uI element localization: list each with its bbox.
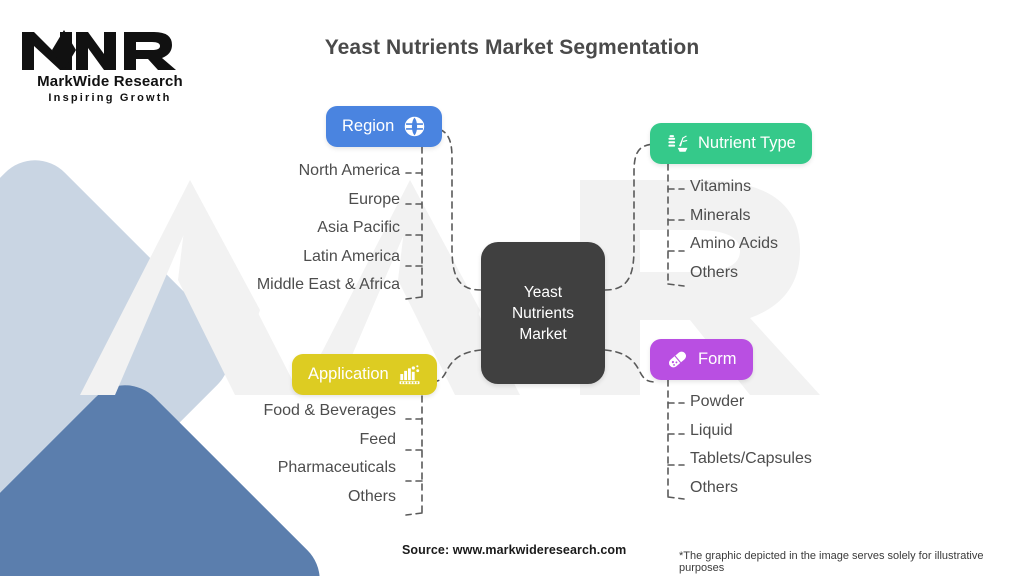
nutrient-icon xyxy=(666,132,689,155)
diagram-canvas: MarkWide Research Inspiring Growth Yeast… xyxy=(0,0,1024,576)
leaf-item: Asia Pacific xyxy=(317,219,400,237)
capsule-icon xyxy=(666,348,689,371)
category-badge-nutrient-type[interactable]: Nutrient Type xyxy=(650,123,812,164)
leaf-item: Food & Beverages xyxy=(263,402,396,420)
leaf-item: Amino Acids xyxy=(690,235,778,253)
leaf-item: Feed xyxy=(360,431,396,449)
leaf-item: Others xyxy=(690,264,738,282)
leaf-item: Others xyxy=(348,488,396,506)
leaf-item: Pharmaceuticals xyxy=(278,459,396,477)
leaf-item: Others xyxy=(690,479,738,497)
leaf-list-region: North America Europe Asia Pacific Latin … xyxy=(100,162,400,294)
category-label-nutrient-type: Nutrient Type xyxy=(698,134,796,153)
category-badge-region[interactable]: Region xyxy=(326,106,442,147)
leaf-item: Minerals xyxy=(690,207,750,225)
leaf-item: Vitamins xyxy=(690,178,751,196)
leaf-list-application: Food & Beverages Feed Pharmaceuticals Ot… xyxy=(100,402,396,506)
category-badge-form[interactable]: Form xyxy=(650,339,753,380)
leaf-item: Latin America xyxy=(303,248,400,266)
category-badge-application[interactable]: Application xyxy=(292,354,437,395)
leaf-item: Europe xyxy=(348,191,400,209)
leaf-item: Middle East & Africa xyxy=(257,276,400,294)
factory-icon xyxy=(398,363,421,386)
disclaimer-label: *The graphic depicted in the image serve… xyxy=(679,550,1024,574)
center-node[interactable]: Yeast Nutrients Market xyxy=(481,242,605,384)
category-label-region: Region xyxy=(342,117,394,136)
leaf-item: Powder xyxy=(690,393,744,411)
leaf-item: Tablets/Capsules xyxy=(690,450,812,468)
center-node-label: Yeast Nutrients Market xyxy=(512,282,574,345)
leaf-item: North America xyxy=(299,162,400,180)
category-label-application: Application xyxy=(308,365,389,384)
category-label-form: Form xyxy=(698,350,737,369)
leaf-list-nutrient-type: Vitamins Minerals Amino Acids Others xyxy=(690,178,970,282)
globe-icon xyxy=(403,115,426,138)
leaf-item: Liquid xyxy=(690,422,733,440)
source-label: Source: www.markwideresearch.com xyxy=(402,543,626,557)
leaf-list-form: Powder Liquid Tablets/Capsules Others xyxy=(690,393,970,497)
